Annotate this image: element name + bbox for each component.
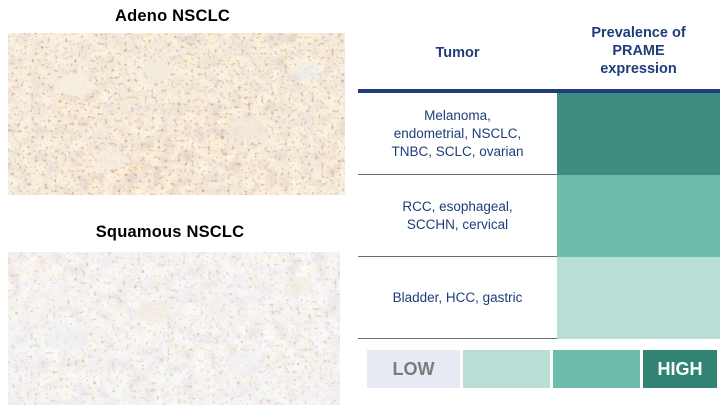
table-row: Melanoma, endometrial, NSCLC, TNBC, SCLC… — [358, 93, 720, 175]
tumor-cell-line3: TNBC, SCLC, ovarian — [391, 143, 523, 161]
table-row: Bladder, HCC, gastric — [358, 257, 720, 339]
prame-prevalence-table: Tumor Prevalence of PRAME expression Mel… — [355, 0, 727, 410]
column-header-prevalence-line2: PRAME — [557, 42, 720, 60]
tumor-cell-line2: SCCHN, cervical — [402, 216, 512, 234]
column-header-prevalence-line1: Prevalence of — [557, 24, 720, 42]
adeno-nsclc-micrograph — [8, 33, 345, 195]
tumor-cell-line1: RCC, esophageal, — [402, 198, 512, 216]
prevalence-swatch-low — [557, 257, 720, 339]
column-header-prevalence: Prevalence of PRAME expression — [557, 24, 720, 78]
prevalence-swatch-high — [557, 93, 720, 175]
table-body: Melanoma, endometrial, NSCLC, TNBC, SCLC… — [358, 93, 720, 339]
tumor-cell-line2: endometrial, NSCLC, — [391, 125, 523, 143]
prevalence-swatch-medium — [557, 175, 720, 257]
column-header-tumor: Tumor — [358, 44, 557, 62]
adeno-ihc-render — [8, 33, 345, 195]
table-row: RCC, esophageal, SCCHN, cervical — [358, 175, 720, 257]
micrograph-panel: Adeno NSCLC — [0, 0, 355, 410]
tumor-cell: RCC, esophageal, SCCHN, cervical — [358, 175, 557, 257]
column-header-prevalence-line3: expression — [557, 60, 720, 78]
squamous-ihc-render — [8, 252, 340, 405]
tumor-cell: Melanoma, endometrial, NSCLC, TNBC, SCLC… — [358, 93, 557, 175]
legend-segment-low: LOW — [367, 350, 460, 388]
table-header-row: Tumor Prevalence of PRAME expression — [358, 6, 720, 90]
tumor-cell-line1: Melanoma, — [391, 107, 523, 125]
squamous-nsclc-micrograph — [8, 252, 340, 405]
legend-segment-high: HIGH — [643, 350, 717, 388]
legend-segment-light — [463, 350, 550, 388]
legend-segment-medium — [553, 350, 640, 388]
prevalence-legend: LOW HIGH — [367, 350, 717, 388]
squamous-nsclc-title: Squamous NSCLC — [0, 224, 340, 241]
adeno-nsclc-title: Adeno NSCLC — [0, 8, 345, 25]
tumor-cell: Bladder, HCC, gastric — [358, 257, 557, 339]
tumor-cell-line1: Bladder, HCC, gastric — [393, 289, 523, 307]
row-divider — [358, 338, 557, 339]
